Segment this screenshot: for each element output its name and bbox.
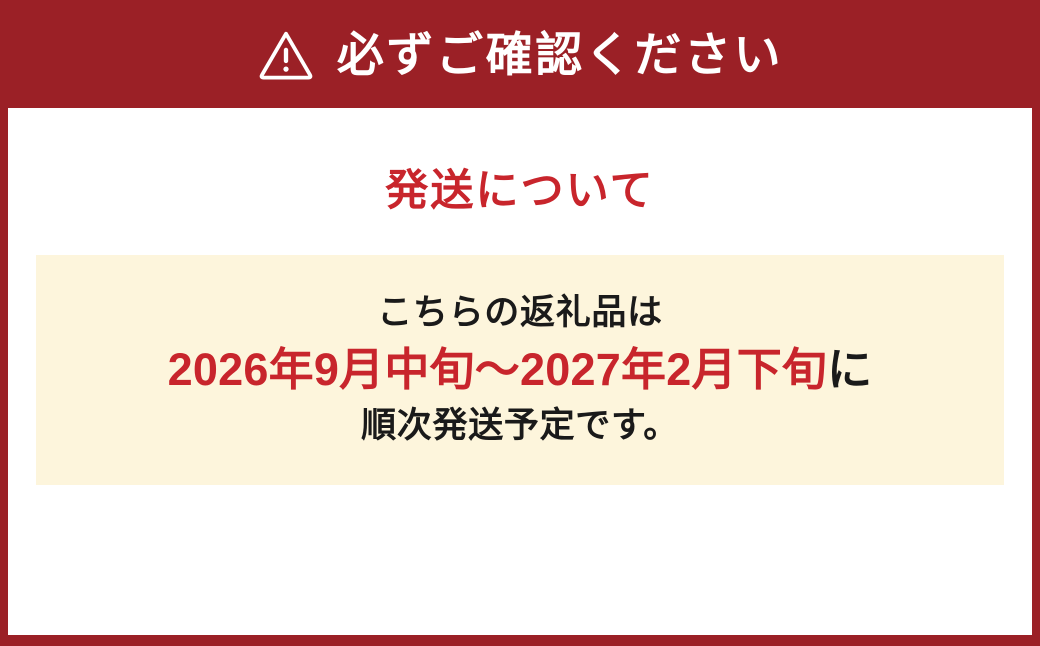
- shipping-schedule-callout: こちらの返礼品は 2026年9月中旬～2027年2月下旬に 順次発送予定です。: [36, 255, 1004, 485]
- shipping-notice-card: 必ずご確認ください 発送について こちらの返礼品は 2026年9月中旬～2027…: [0, 0, 1040, 646]
- callout-date-line: 2026年9月中旬～2027年2月下旬に: [168, 343, 873, 398]
- callout-tail-text: 順次発送予定です。: [361, 405, 679, 448]
- notice-header-title: 必ずご確認ください: [337, 31, 783, 78]
- section-title: 発送について: [8, 170, 1032, 213]
- callout-lead-text: こちらの返礼品は: [377, 292, 663, 335]
- notice-header-banner: 必ずご確認ください: [0, 0, 1040, 108]
- callout-date-suffix: に: [827, 344, 872, 395]
- notice-body: 発送について こちらの返礼品は 2026年9月中旬～2027年2月下旬に 順次発…: [8, 108, 1032, 635]
- callout-date-range: 2026年9月中旬～2027年2月下旬: [168, 344, 828, 395]
- warning-triangle-icon: [257, 26, 315, 84]
